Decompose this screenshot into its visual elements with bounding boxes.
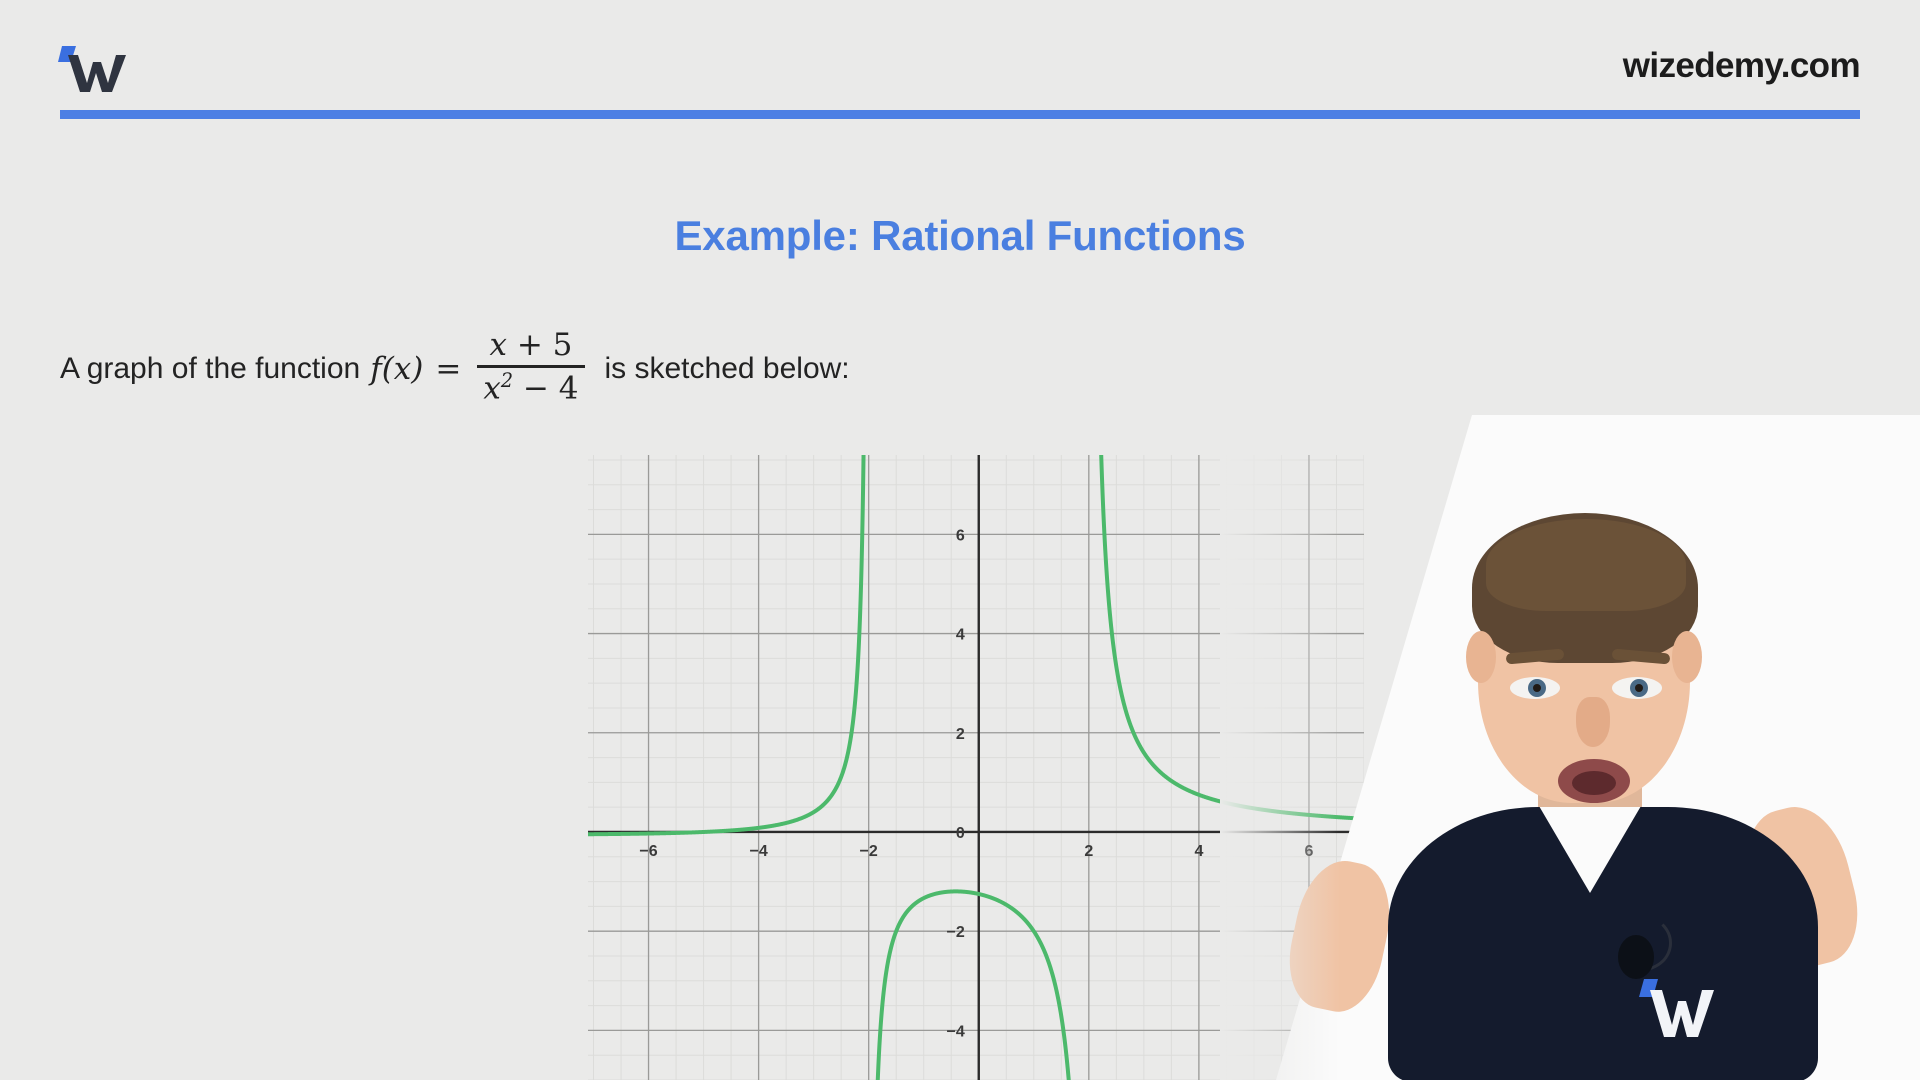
presenter-left-ear: [1466, 631, 1496, 683]
statement-tail-text: is sketched below:: [605, 352, 850, 386]
denominator-exponent: 2: [501, 369, 513, 392]
tick-labels: −6−4−2246−4−20246: [639, 527, 1313, 1040]
x-tick-label: −6: [639, 843, 657, 860]
y-tick-label: −2: [947, 924, 965, 941]
problem-statement: A graph of the function f(x) = x + 5 x2 …: [60, 330, 850, 408]
instructor-video-overlay: [1220, 415, 1920, 1080]
statement-lead-text: A graph of the function: [60, 352, 360, 386]
curve-middle-branch: [874, 891, 1078, 1080]
x-tick-label: −4: [749, 843, 767, 860]
presenter-hair-fringe: [1486, 519, 1686, 611]
header-divider-rule: [60, 110, 1860, 119]
presenter-right-ear: [1672, 631, 1702, 683]
y-tick-label: 2: [956, 726, 965, 743]
page-header: wizedemy.com: [0, 0, 1920, 122]
denominator-variable: x: [483, 370, 500, 406]
y-tick-label: −4: [947, 1023, 965, 1040]
presenter-lapel-mic: [1618, 935, 1654, 979]
y-tick-label: 4: [956, 627, 965, 644]
curve-left-branch: [588, 455, 865, 834]
y-tick-label: 6: [956, 527, 965, 544]
fraction-numerator: x + 5: [483, 328, 578, 363]
numerator-variable: x: [489, 327, 506, 363]
wizedemy-logo-icon[interactable]: [56, 42, 128, 94]
origin-label: 0: [956, 825, 965, 842]
function-fraction: x + 5 x2 − 4: [477, 328, 584, 406]
video-left-feather: [1220, 415, 1340, 1080]
denominator-rest: − 4: [523, 370, 579, 406]
x-tick-label: −2: [860, 843, 878, 860]
slide-title: Example: Rational Functions: [0, 212, 1920, 260]
presenter-mouth-inner: [1572, 771, 1616, 795]
presenter-left-pupil: [1533, 684, 1541, 692]
x-tick-label: 2: [1084, 843, 1093, 860]
presenter-right-pupil: [1635, 684, 1643, 692]
fraction-denominator: x2 − 4: [477, 370, 584, 406]
wizedemy-shirt-logo-icon: [1638, 975, 1724, 1039]
fraction-bar: [477, 365, 584, 368]
numerator-rest: + 5: [517, 327, 573, 363]
presenter-nose: [1576, 697, 1610, 747]
equals-sign: =: [435, 351, 461, 387]
x-tick-label: 4: [1194, 843, 1203, 860]
brand-wordmark[interactable]: wizedemy.com: [1623, 46, 1860, 86]
function-label: f(x): [370, 351, 423, 387]
